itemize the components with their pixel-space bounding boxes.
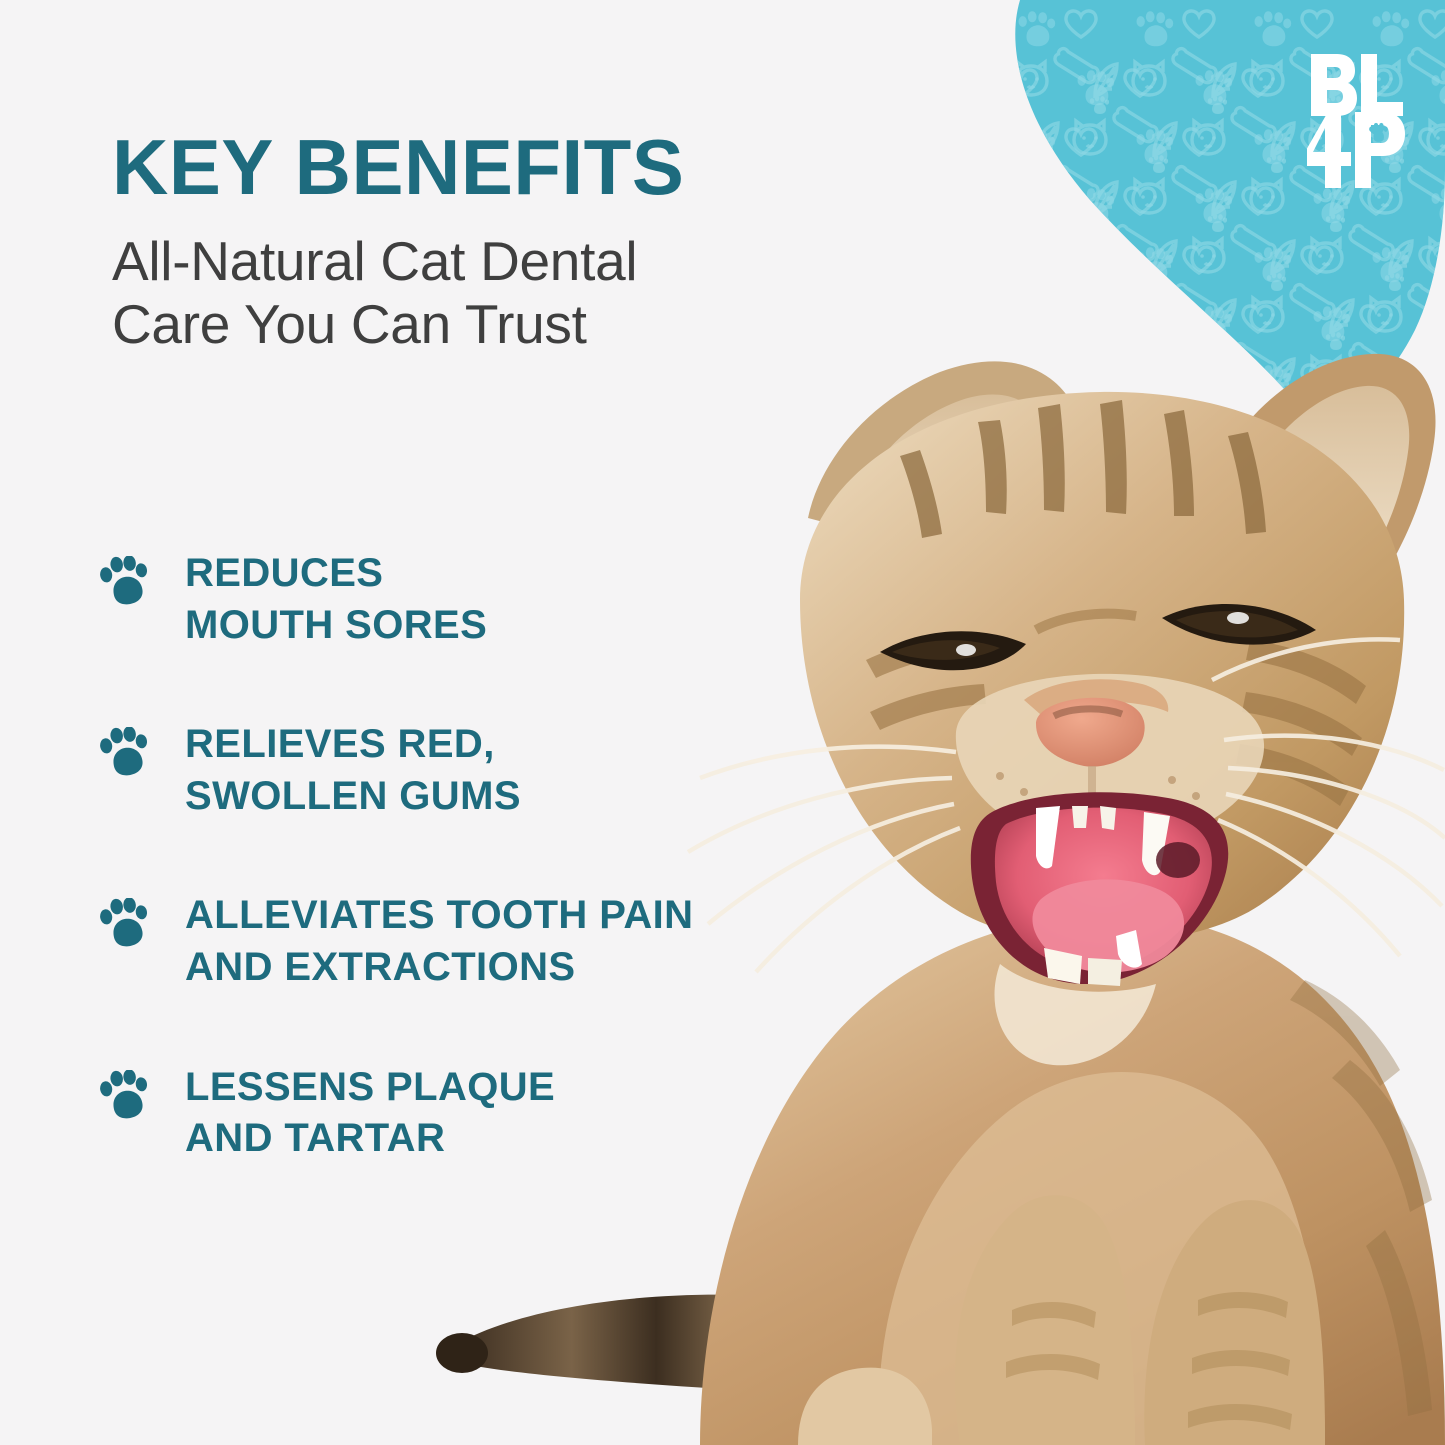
benefit-item-alleviates-tooth-pain: ALLEVIATES TOOTH PAIN AND EXTRACTIONS bbox=[100, 890, 890, 993]
paw-icon bbox=[100, 898, 150, 950]
benefit-label: REDUCES MOUTH SORES bbox=[185, 548, 487, 651]
paw-icon bbox=[100, 1070, 150, 1122]
benefit-line-1: REDUCES bbox=[185, 548, 487, 600]
cat-tail bbox=[436, 1295, 985, 1394]
brand-logo-bl4p[interactable] bbox=[1307, 52, 1407, 192]
benefits-list: REDUCES MOUTH SORES RELIEVES RED, bbox=[100, 548, 890, 1165]
cat-ear-right bbox=[1228, 354, 1436, 610]
benefit-line-1: ALLEVIATES TOOTH PAIN bbox=[185, 890, 693, 942]
benefit-line-2: SWOLLEN GUMS bbox=[185, 771, 521, 823]
benefit-line-1: RELIEVES RED, bbox=[185, 719, 521, 771]
benefit-label: LESSENS PLAQUE AND TARTAR bbox=[185, 1062, 555, 1165]
cat-mouth bbox=[971, 792, 1228, 986]
page-title: KEY BENEFITS bbox=[112, 131, 872, 204]
cat-eye-right bbox=[1162, 604, 1316, 645]
paw-icon-glyph bbox=[100, 727, 150, 779]
page-subtitle: All-Natural Cat Dental Care You Can Trus… bbox=[112, 230, 872, 355]
paw-icon-glyph bbox=[100, 1070, 150, 1122]
paw-icon bbox=[100, 556, 150, 608]
benefit-line-2: MOUTH SORES bbox=[185, 600, 487, 652]
cat-eye-left bbox=[880, 631, 1026, 670]
subtitle-line-2: Care You Can Trust bbox=[112, 293, 872, 356]
benefit-label: RELIEVES RED, SWOLLEN GUMS bbox=[185, 719, 521, 822]
paw-icon-glyph bbox=[100, 556, 150, 608]
benefit-item-relieves-red-swollen-gums: RELIEVES RED, SWOLLEN GUMS bbox=[100, 719, 890, 822]
product-benefits-infographic: KEY BENEFITS All-Natural Cat Dental Care… bbox=[0, 0, 1445, 1445]
benefit-item-reduces-mouth-sores: REDUCES MOUTH SORES bbox=[100, 548, 890, 651]
subtitle-line-1: All-Natural Cat Dental bbox=[112, 230, 872, 293]
benefit-line-1: LESSENS PLAQUE bbox=[185, 1062, 555, 1114]
benefit-label: ALLEVIATES TOOTH PAIN AND EXTRACTIONS bbox=[185, 890, 693, 993]
logo-mark bbox=[1307, 52, 1407, 192]
benefit-line-2: AND TARTAR bbox=[185, 1113, 555, 1165]
benefit-line-2: AND EXTRACTIONS bbox=[185, 942, 693, 994]
paw-icon-glyph bbox=[100, 898, 150, 950]
paw-icon bbox=[100, 727, 150, 779]
benefit-item-lessens-plaque-and-tartar: LESSENS PLAQUE AND TARTAR bbox=[100, 1062, 890, 1165]
headline-block: KEY BENEFITS All-Natural Cat Dental Care… bbox=[112, 131, 872, 356]
